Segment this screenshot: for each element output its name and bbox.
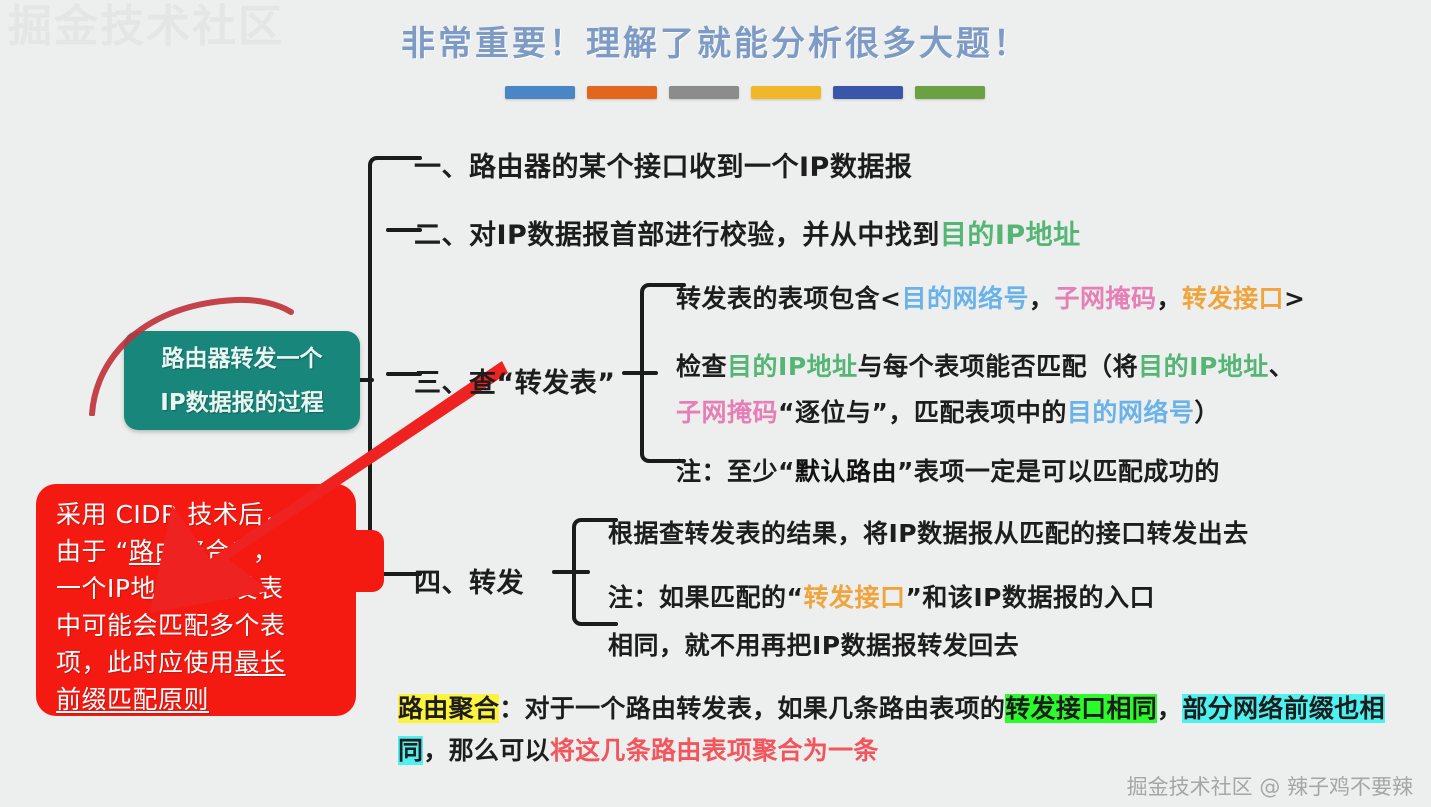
branch-4-2-line2: 相同，就不用再把IP数据报转发回去 xyxy=(608,626,1155,662)
branch-3-3-text: 注：至少“默认路由”表项一定是可以匹配成功的 xyxy=(676,452,1220,488)
footer-seg3: ，那么可以 xyxy=(423,736,550,765)
watermark-bottom-right: 掘金技术社区 @ 辣子鸡不要辣 xyxy=(1127,771,1413,801)
callout-line5-pre: 项，此时应使用 xyxy=(56,648,235,677)
b42-post: ”和该IP数据报的入口 xyxy=(905,583,1155,612)
b32-p1: 检查 xyxy=(676,352,727,381)
b32-pink1: 子网掩码 xyxy=(676,398,778,427)
b31-post: > xyxy=(1284,284,1305,313)
branch-3-sub-bracket xyxy=(640,283,676,463)
branch-3-2-text: 检查目的IP地址与每个表项能否匹配（将目的IP地址、子网掩码“逐位与”，匹配表项… xyxy=(676,344,1306,436)
branch-2-label-highlight: 目的IP地址 xyxy=(940,220,1081,251)
b32-green1: 目的IP地址 xyxy=(727,352,858,381)
b31-pre: 转发表的表项包含< xyxy=(676,284,901,313)
bar-yellow xyxy=(751,86,821,99)
branch-4-2-text: 注：如果匹配的“转发接口”和该IP数据报的入口 相同，就不用再把IP数据报转发回… xyxy=(608,578,1155,662)
branch-4-sub-bracket xyxy=(572,518,608,626)
footer-red-text: 将这几条路由表项聚合为一条 xyxy=(550,736,879,765)
bar-gray xyxy=(669,86,739,99)
callout-line2-pre: 由于 “ xyxy=(56,537,129,566)
b32-p4: “逐位与”，匹配表项中的 xyxy=(778,398,1067,427)
b31-sep2: ， xyxy=(1157,284,1183,313)
branch-2-label-pre: 二、对IP数据报首部进行校验，并从中找到 xyxy=(414,220,940,251)
b32-green2: 目的IP地 xyxy=(1138,352,1243,381)
b33-strong: 默认路由 xyxy=(795,457,897,486)
callout-line5-underline: 最长 xyxy=(235,648,286,677)
branch-1-label: 一、路由器的某个接口收到一个IP数据报 xyxy=(414,145,912,184)
b31-blue: 目的网络号 xyxy=(901,284,1029,313)
callout-line-6: 前缀匹配原则 xyxy=(56,681,340,718)
title-decoration-bars xyxy=(505,86,985,99)
bar-blue xyxy=(505,86,575,99)
callout-line-5: 项，此时应使用最长 xyxy=(56,644,340,681)
footer-hl-green: 转发接口相同 xyxy=(1005,694,1157,723)
b32-p3: 、 xyxy=(1269,352,1295,381)
bar-darkblue xyxy=(833,86,903,99)
branch-3-label: 三、查“转发表” xyxy=(414,361,616,400)
bar-orange xyxy=(587,86,657,99)
callout-line6-underline: 前缀匹配原则 xyxy=(56,685,209,714)
branch-2-label: 二、对IP数据报首部进行校验，并从中找到目的IP地址 xyxy=(414,213,1081,252)
b42-orange: 转发接口 xyxy=(803,583,905,612)
branch-4-2-line1: 注：如果匹配的“转发接口”和该IP数据报的入口 xyxy=(608,578,1155,614)
b31-orange: 转发接口 xyxy=(1182,284,1284,313)
b33-pre: 注：至少“ xyxy=(676,457,795,486)
b32-green3: 址 xyxy=(1243,352,1269,381)
b31-pink: 子网掩码 xyxy=(1054,284,1156,313)
footer-seg1: ：对于一个路由转发表，如果几条路由表项的 xyxy=(499,694,1005,723)
page-title: 非常重要！理解了就能分析很多大题！ xyxy=(0,16,1431,65)
footer-seg2: ， xyxy=(1157,694,1182,723)
branch-4-label: 四、转发 xyxy=(414,561,524,600)
b33-post: ”表项一定是可以匹配成功的 xyxy=(897,457,1220,486)
b32-p2: 与每个表项能否匹配（将 xyxy=(858,352,1139,381)
slide-canvas: 掘金技术社区 非常重要！理解了就能分析很多大题！ 路由器转发一个 IP数据报的过… xyxy=(0,0,1431,807)
footer-hl-yellow: 路由聚合 xyxy=(398,694,499,723)
branch-3-1-text: 转发表的表项包含<目的网络号，子网掩码，转发接口> xyxy=(676,279,1305,315)
b31-sep1: ， xyxy=(1029,284,1055,313)
b42-pre: 注：如果匹配的“ xyxy=(608,583,803,612)
branch-4-1-text: 根据查转发表的结果，将IP数据报从匹配的接口转发出去 xyxy=(608,514,1249,550)
bar-green xyxy=(915,86,985,99)
b32-blue1: 目的网络号 xyxy=(1067,398,1195,427)
b32-p5: ） xyxy=(1194,398,1220,427)
footer-note: 路由聚合：对于一个路由转发表，如果几条路由表项的转发接口相同，部分网络前缀也相同… xyxy=(398,688,1408,772)
